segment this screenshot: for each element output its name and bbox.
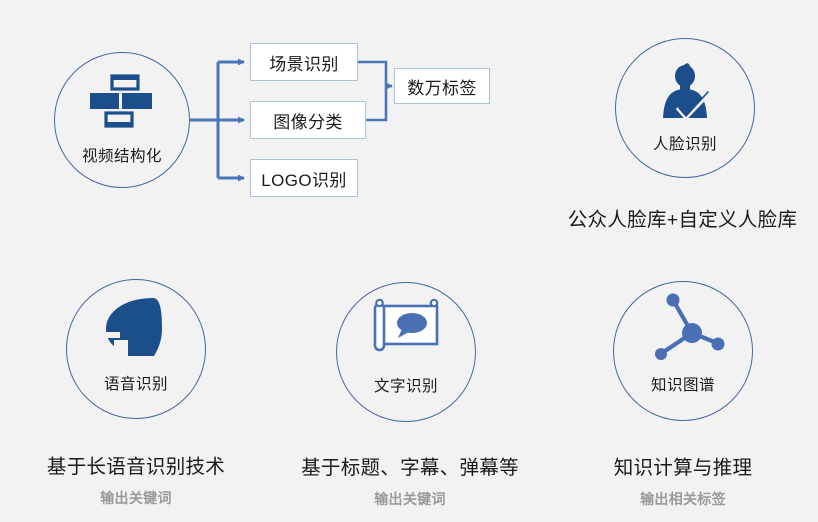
node-network-icon (640, 285, 730, 363)
panel-speech-recognition[interactable]: 语音识别 基于长语音识别技术 输出关键词 (0, 262, 272, 522)
knowledge-graph-subcaption: 输出相关标签 (548, 489, 818, 509)
tens-of-thousands-tags-label: 数万标签 (407, 74, 477, 99)
logo-recognition-box[interactable]: LOGO识别 (250, 159, 358, 197)
image-classification-label: 图像分类 (273, 108, 343, 133)
text-recognition-label: 文字识别 (336, 374, 476, 396)
logo-recognition-label: LOGO识别 (261, 166, 347, 191)
knowledge-graph-label: 知识图谱 (613, 373, 753, 395)
panel-video-structuring[interactable]: 视频结构化 场景识别 (0, 0, 544, 259)
scene-recognition-label: 场景识别 (269, 50, 339, 75)
speech-recognition-caption: 基于长语音识别技术 (0, 450, 272, 479)
person-check-icon (655, 62, 717, 124)
panel-text-recognition[interactable]: 文字识别 基于标题、字幕、弹幕等 输出关键词 (275, 262, 545, 522)
knowledge-graph-caption: 知识计算与推理 (548, 451, 818, 480)
speaking-head-icon (98, 296, 174, 358)
scene-recognition-box[interactable]: 场景识别 (250, 43, 358, 81)
face-recognition-label: 人脸识别 (615, 132, 755, 154)
panel-face-recognition[interactable]: 人脸识别 公众人脸库+自定义人脸库 (547, 0, 818, 259)
tens-of-thousands-tags-box[interactable]: 数万标签 (394, 68, 490, 104)
speech-recognition-subcaption: 输出关键词 (0, 488, 272, 508)
text-recognition-caption: 基于标题、字幕、弹幕等 (275, 451, 545, 480)
face-recognition-caption: 公众人脸库+自定义人脸库 (547, 203, 818, 232)
slide-canvas: 视频结构化 场景识别 (0, 0, 818, 522)
banner-speech-bubble-icon (370, 298, 446, 358)
panel-knowledge-graph[interactable]: 知识图谱 知识计算与推理 输出相关标签 (548, 262, 818, 522)
video-structuring-label: 视频结构化 (54, 144, 190, 166)
speech-recognition-label: 语音识别 (66, 372, 206, 394)
image-classification-box[interactable]: 图像分类 (250, 101, 366, 139)
video-structure-icon (86, 74, 158, 128)
text-recognition-subcaption: 输出关键词 (275, 489, 545, 509)
